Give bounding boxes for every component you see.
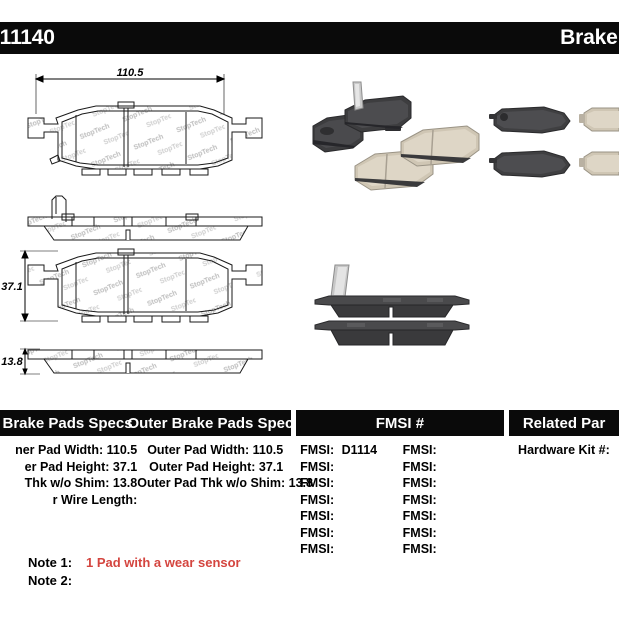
header-related-parts: Related Par [509, 410, 619, 436]
fmsi-subcolumn-1: FMSI: D1114 FMSI: FMSI: FMSI: [300, 442, 403, 558]
spec-row: Outer Pad Thk w/o Shim: 13.8 [137, 475, 283, 492]
page-title: Brake P [560, 26, 619, 50]
spec-value: 110.5 [107, 443, 138, 457]
pad-top-view-2 [28, 249, 262, 322]
spec-row: Thk w/o Shim: 13.8 [0, 475, 137, 492]
pad-photo-dark-lower [489, 151, 570, 177]
fmsi-row: FMSI: [403, 442, 506, 459]
spec-label: ner Pad Width: [15, 443, 103, 457]
wear-sensor-clip [331, 265, 349, 297]
fmsi-label: FMSI: [403, 476, 437, 490]
fmsi-subcolumn-2: FMSI: FMSI: FMSI: FMSI: [403, 442, 506, 558]
header-fmsi: FMSI # [296, 410, 505, 436]
brake-pad-set-photo [305, 80, 490, 230]
fmsi-label: FMSI: [300, 493, 334, 507]
spec-row: er Pad Height: 37.1 [0, 459, 137, 476]
fmsi-value [437, 476, 441, 490]
fmsi-value [334, 526, 338, 540]
fmsi-label: FMSI: [403, 460, 437, 474]
header-inner-brake-pads-specs: Brake Pads Specs [0, 410, 139, 436]
spec-table-header-row: Brake Pads Specs Outer Brake Pads Specs … [0, 410, 619, 436]
fmsi-value [334, 493, 338, 507]
fmsi-value: D1114 [338, 443, 377, 457]
spec-table: Brake Pads Specs Outer Brake Pads Specs … [0, 410, 619, 558]
fmsi-label: FMSI: [403, 493, 437, 507]
inner-specs-column: ner Pad Width: 110.5 er Pad Height: 37.1… [0, 436, 137, 508]
fmsi-value [334, 542, 338, 556]
related-part-row: Hardware Kit #: [518, 442, 619, 459]
fmsi-label: FMSI: [403, 542, 437, 556]
spec-row: r Wire Length: [0, 492, 137, 509]
spec-label: Outer Pad Width: [147, 443, 249, 457]
note-1-label: Note 1: [28, 554, 80, 572]
fmsi-label: FMSI: [300, 443, 334, 457]
fmsi-row: FMSI: [300, 508, 403, 525]
fmsi-value [334, 476, 338, 490]
note-1-text: 1 Pad with a wear sensor [80, 554, 241, 572]
fmsi-row: FMSI: [403, 475, 506, 492]
note-row-2: Note 2: [0, 572, 300, 590]
related-parts-column: Hardware Kit #: [510, 436, 619, 459]
fmsi-row: FMSI: [300, 525, 403, 542]
note-row-1: Note 1: 1 Pad with a wear sensor [0, 554, 300, 572]
fmsi-value [437, 542, 441, 556]
fmsi-label: FMSI: [403, 443, 437, 457]
fmsi-label: FMSI: [403, 509, 437, 523]
fmsi-row: FMSI: [300, 459, 403, 476]
fmsi-row: FMSI: [403, 459, 506, 476]
fmsi-value [437, 493, 441, 507]
spec-value: 110.5 [253, 443, 284, 457]
fmsi-row: FMSI: [403, 508, 506, 525]
spec-label: Thk w/o Shim: [25, 476, 110, 490]
pad-photo-light-upper [579, 108, 619, 131]
pad-photo-dark-upper [489, 107, 570, 133]
spec-value: 13.8 [113, 476, 137, 490]
title-bar: .11140 Brake P [0, 22, 619, 54]
part-number: .11140 [0, 26, 55, 50]
fmsi-value [334, 460, 338, 474]
spec-row: Outer Pad Width: 110.5 [137, 442, 283, 459]
spec-label: Outer Pad Height: [149, 460, 255, 474]
fmsi-row: FMSI: [300, 492, 403, 509]
product-spec-sheet: .11140 Brake P StopTech StopTech [0, 0, 619, 619]
spec-table-body: ner Pad Width: 110.5 er Pad Height: 37.1… [0, 436, 619, 558]
spec-label: er Pad Height: [25, 460, 110, 474]
spec-row: Outer Pad Height: 37.1 [137, 459, 283, 476]
fmsi-row: FMSI: [300, 475, 403, 492]
note-2-label: Note 2: [28, 572, 80, 590]
outer-specs-column: Outer Pad Width: 110.5 Outer Pad Height:… [137, 436, 289, 492]
fmsi-row: FMSI: [403, 541, 506, 558]
dimension-thickness-label: 13.8 [1, 356, 23, 368]
related-part-label: Hardware Kit #: [518, 443, 610, 457]
pad-top-view [28, 102, 262, 175]
fmsi-row: FMSI: D1114 [300, 442, 403, 459]
fmsi-value [437, 526, 441, 540]
spec-row: ner Pad Width: 110.5 [0, 442, 137, 459]
spec-label: r Wire Length: [53, 493, 138, 507]
fmsi-row: FMSI: [403, 492, 506, 509]
brake-pad-edge-photo [305, 255, 495, 355]
fmsi-value [437, 509, 441, 523]
fmsi-value [437, 443, 441, 457]
spec-value: 37.1 [113, 460, 137, 474]
pad-side-view-bottom [28, 350, 262, 373]
fmsi-label: FMSI: [300, 476, 334, 490]
fmsi-column: FMSI: D1114 FMSI: FMSI: FMSI: [294, 436, 505, 558]
note-2-text [80, 572, 86, 590]
spec-value: 37.1 [259, 460, 283, 474]
dimension-height-label: 37.1 [1, 281, 22, 293]
brake-pad-engineering-drawing: StopTech StopTech [0, 62, 300, 392]
dimension-width-label: 110.5 [117, 67, 145, 79]
fmsi-label: FMSI: [300, 526, 334, 540]
fmsi-label: FMSI: [403, 526, 437, 540]
brake-pad-pair-photo [480, 95, 619, 205]
pad-photo-light-lower [579, 152, 619, 175]
pad-edge-upper [315, 296, 469, 317]
fmsi-label: FMSI: [300, 509, 334, 523]
dimension-height [20, 251, 58, 321]
pad-photo-dark-center [345, 82, 411, 132]
fmsi-label: FMSI: [300, 460, 334, 474]
fmsi-row: FMSI: [403, 525, 506, 542]
technical-drawing: StopTech StopTech [0, 62, 300, 392]
pad-photo-light-right [401, 126, 479, 166]
header-outer-brake-pads-specs: Outer Brake Pads Specs [139, 410, 291, 436]
spec-label: Outer Pad Thk w/o Shim: [137, 476, 285, 490]
pad-edge-lower [315, 321, 469, 345]
fmsi-label: FMSI: [300, 542, 334, 556]
fmsi-value [437, 460, 441, 474]
fmsi-row: FMSI: [300, 541, 403, 558]
notes-section: Note 1: 1 Pad with a wear sensor Note 2: [0, 554, 300, 590]
fmsi-value [334, 509, 338, 523]
pad-side-view-top [28, 196, 262, 240]
